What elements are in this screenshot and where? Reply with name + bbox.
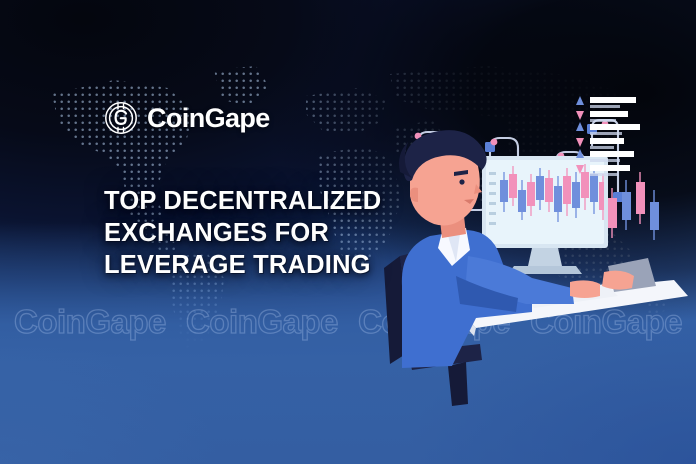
coingape-logo-text: CoinGape bbox=[147, 105, 270, 132]
coingape-article-banner: CoinGape CoinGape CoinGape CoinGape bbox=[0, 0, 696, 464]
background-ticker-list bbox=[572, 93, 668, 179]
page-title: TOP DECENTRALIZED EXCHANGES FOR LEVERAGE… bbox=[104, 185, 434, 281]
page-title-line: LEVERAGE TRADING bbox=[104, 249, 434, 281]
page-title-line: TOP DECENTRALIZED bbox=[104, 185, 434, 217]
coingape-logo[interactable]: CoinGape bbox=[104, 101, 270, 135]
page-title-line: EXCHANGES FOR bbox=[104, 217, 434, 249]
coingape-g-coin-icon bbox=[104, 101, 138, 135]
